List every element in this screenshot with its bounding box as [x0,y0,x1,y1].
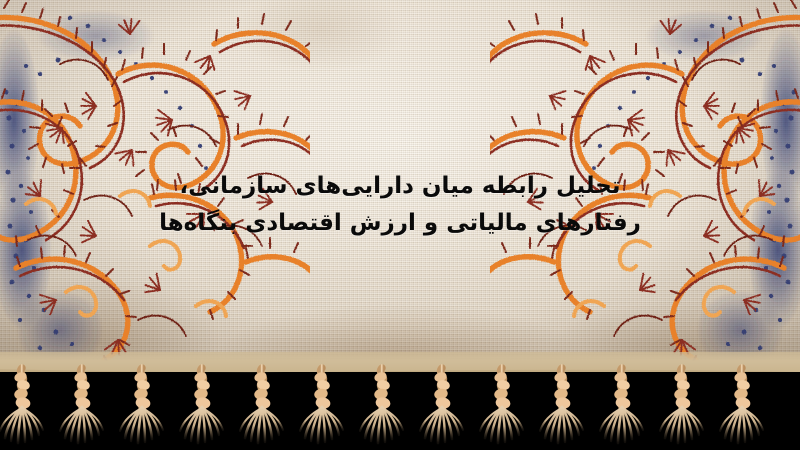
slide-canvas: تحلیل رابطه میان دارایی‌های سازمانی، رفت… [0,0,800,450]
title-line-1: تحلیل رابطه میان دارایی‌های سازمانی، [0,168,800,205]
tassel-fringe [0,352,800,450]
title-line-2: رفتارهای مالیاتی و ارزش اقتصادی بنگاه‌ها [0,205,800,242]
tassel-row [0,368,763,443]
slide-title: تحلیل رابطه میان دارایی‌های سازمانی، رفت… [0,168,800,242]
